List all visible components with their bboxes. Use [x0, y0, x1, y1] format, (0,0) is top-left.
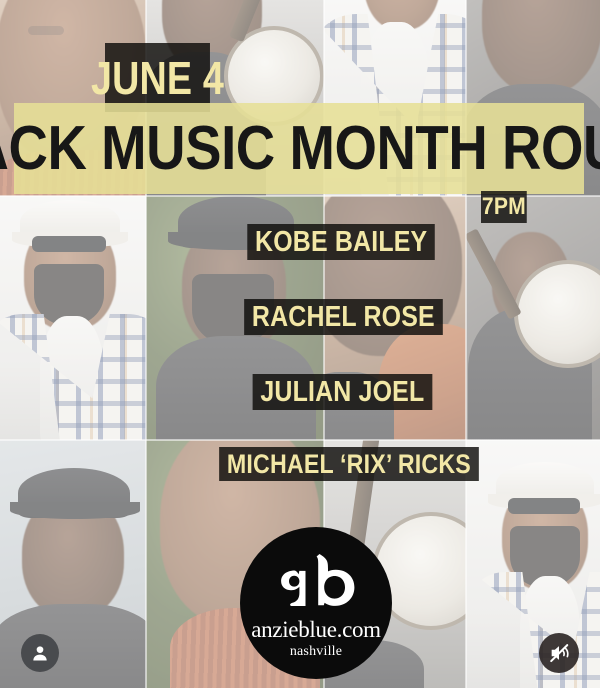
- ab-monogram-icon: [274, 554, 358, 616]
- mute-button[interactable]: [539, 633, 579, 673]
- flyer-screen: JUNE 4 BLACK MUSIC MONTH ROUND 7PM KOBE …: [0, 0, 600, 688]
- collage-cell-portrait-man-white-cap: [0, 196, 146, 440]
- artist-name-3-text: JULIAN JOEL: [260, 378, 424, 407]
- artist-name-4: MICHAEL ‘RIX’ RICKS: [219, 447, 479, 481]
- collage-cell-portrait-man-plaid-two: [466, 440, 600, 688]
- artist-name-1: KOBE BAILEY: [247, 224, 435, 260]
- event-title-banner: BLACK MUSIC MONTH ROUND: [14, 103, 584, 194]
- artist-name-1-text: KOBE BAILEY: [255, 228, 427, 257]
- person-icon: [30, 643, 50, 663]
- anzieblue-logo: anzieblue.com nashville: [240, 527, 392, 679]
- event-date-text: JUNE 4: [91, 55, 224, 101]
- artist-name-2: RACHEL ROSE: [244, 299, 442, 335]
- event-date-label: JUNE 4: [105, 43, 210, 112]
- logo-city-text: nashville: [290, 645, 342, 659]
- artist-name-4-text: MICHAEL ‘RIX’ RICKS: [227, 451, 471, 478]
- artist-name-2-text: RACHEL ROSE: [252, 303, 435, 332]
- speaker-muted-icon: [548, 642, 570, 664]
- logo-site-text: anzieblue.com: [251, 618, 381, 641]
- profile-button[interactable]: [21, 634, 59, 672]
- collage-cell-portrait-man-banjo-two: [466, 196, 600, 440]
- event-title-text: BLACK MUSIC MONTH ROUND: [0, 118, 600, 180]
- event-time-text: 7PM: [482, 195, 526, 219]
- artist-name-3: JULIAN JOEL: [253, 374, 433, 410]
- event-time-label: 7PM: [481, 191, 527, 223]
